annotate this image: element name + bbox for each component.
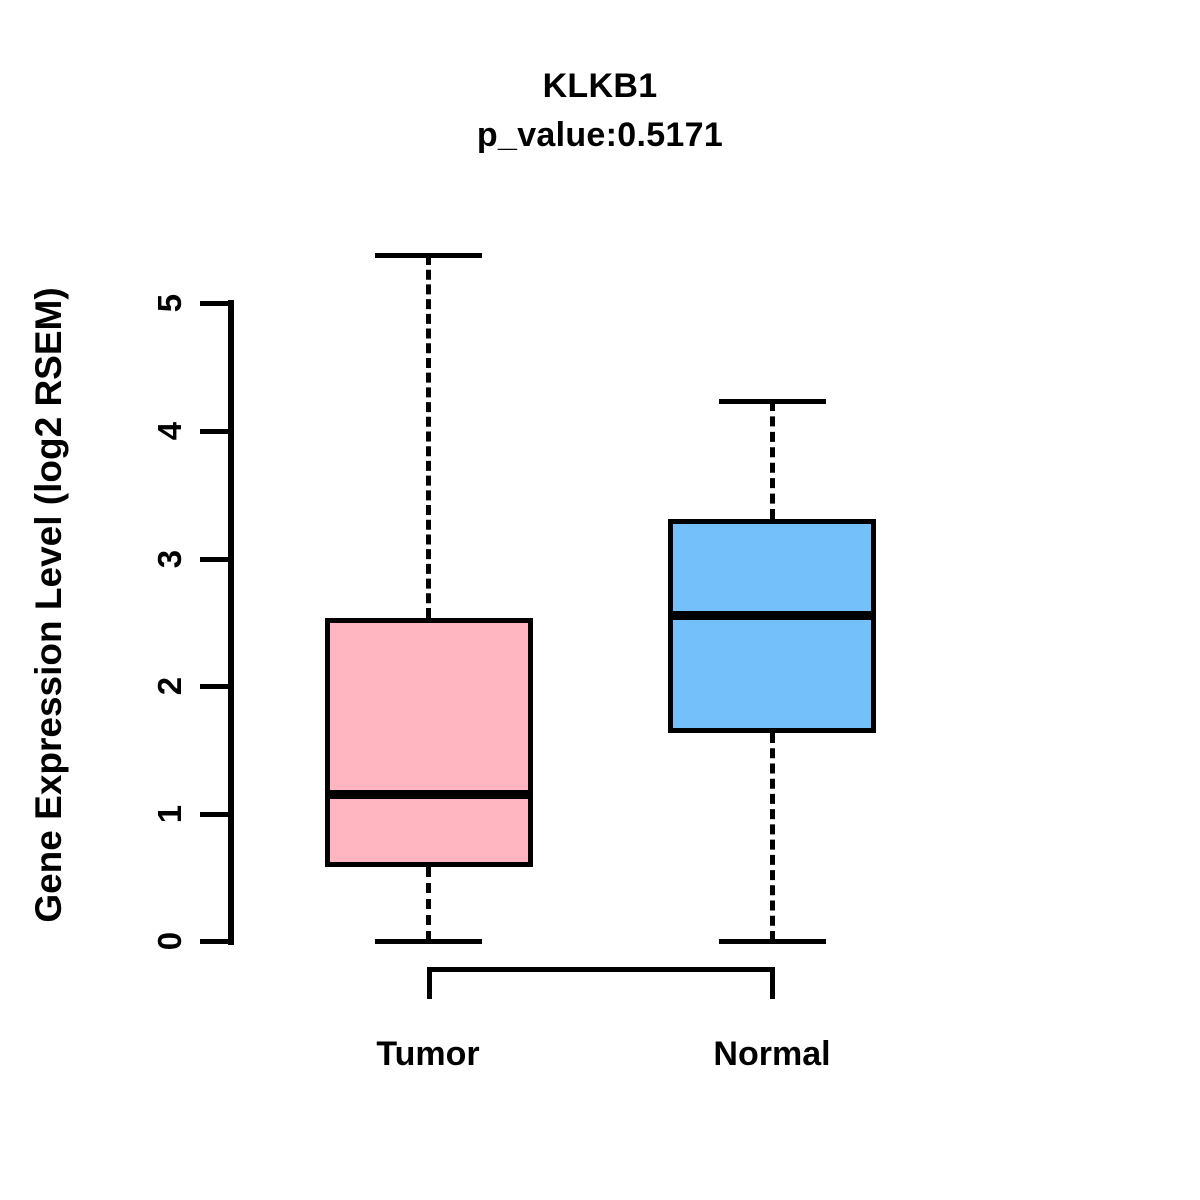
normal-box <box>668 519 876 733</box>
y-tick-label-4: 4 <box>151 401 189 461</box>
y-tick-4 <box>200 429 234 434</box>
x-tick-label-tumor: Tumor <box>278 1035 578 1074</box>
y-axis-label: Gene Expression Level (log2 RSEM) <box>28 265 70 945</box>
y-tick-label-5: 5 <box>151 273 189 333</box>
y-tick-5 <box>200 301 234 306</box>
y-tick-label-0: 0 <box>151 911 189 971</box>
normal-upper-whisker <box>770 401 775 519</box>
x-axis-bracket-tick-left <box>427 967 432 999</box>
x-axis-bracket-line <box>427 967 775 972</box>
normal-lower-whisker <box>770 733 775 941</box>
tumor-median-line <box>325 790 533 799</box>
y-tick-label-2: 2 <box>151 656 189 716</box>
normal-upper-whisker-cap <box>719 399 826 404</box>
normal-median-line <box>668 611 876 620</box>
y-axis-spine <box>228 300 234 945</box>
chart-subtitle-pvalue: p_value:0.5171 <box>0 111 1200 160</box>
tumor-upper-whisker <box>426 255 431 618</box>
y-tick-label-1: 1 <box>151 784 189 844</box>
tumor-lower-whisker <box>426 867 431 941</box>
y-tick-3 <box>200 557 234 562</box>
y-tick-label-3: 3 <box>151 529 189 589</box>
y-tick-0 <box>200 939 234 944</box>
x-tick-label-normal: Normal <box>622 1035 922 1074</box>
chart-title-block: KLKB1 p_value:0.5171 <box>0 62 1200 160</box>
normal-lower-whisker-cap <box>719 939 826 944</box>
tumor-lower-whisker-cap <box>375 939 482 944</box>
tumor-box <box>325 618 533 867</box>
boxplot-figure: KLKB1 p_value:0.5171 Gene Expression Lev… <box>0 0 1200 1200</box>
x-axis-bracket-tick-right <box>770 967 775 999</box>
y-tick-2 <box>200 684 234 689</box>
chart-title: KLKB1 <box>0 62 1200 111</box>
y-tick-1 <box>200 812 234 817</box>
tumor-upper-whisker-cap <box>375 253 482 258</box>
